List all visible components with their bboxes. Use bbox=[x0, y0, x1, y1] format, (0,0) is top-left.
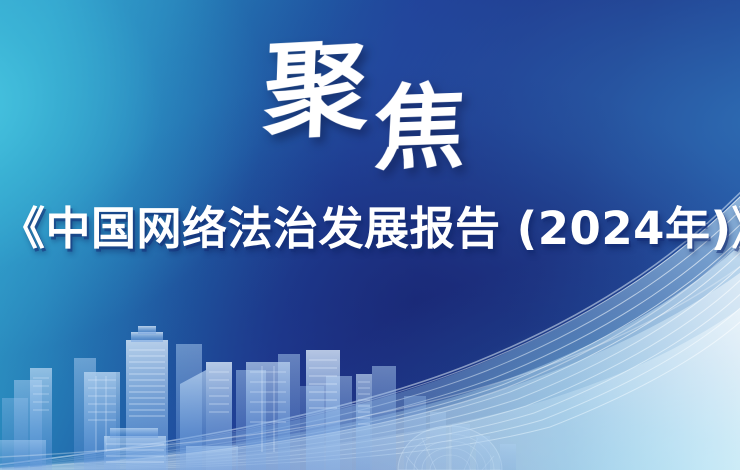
calligraphy-char-ju: 聚 bbox=[262, 35, 370, 144]
banner-canvas: 聚 焦 《中国网络法治发展报告 (2024年)》 bbox=[0, 0, 740, 470]
page-title: 《中国网络法治发展报告 (2024年)》 bbox=[0, 206, 740, 251]
calligraphy-group: 聚 焦 bbox=[258, 38, 488, 193]
calligraphy-char-jiao: 焦 bbox=[371, 80, 468, 175]
